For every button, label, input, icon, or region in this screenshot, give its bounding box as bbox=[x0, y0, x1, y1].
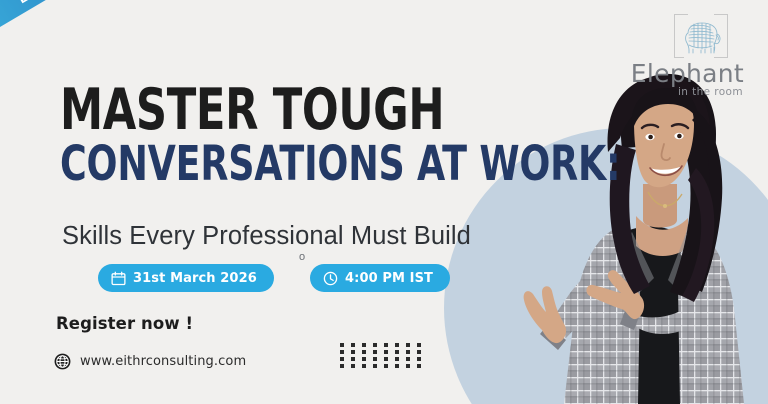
page-title: MASTER TOUGH CONVERSATIONS AT WORK: bbox=[60, 84, 560, 187]
webinar-promo-banner: FREE LIVE WEBINAR bbox=[0, 0, 768, 404]
date-badge[interactable]: 31st March 2026 bbox=[98, 264, 274, 292]
stray-glyph: o bbox=[299, 251, 305, 263]
ribbon-line-2: LIVE WEBINAR bbox=[16, 0, 131, 7]
time-label: 4:00 PM IST bbox=[345, 271, 433, 286]
free-live-webinar-ribbon: FREE LIVE WEBINAR bbox=[0, 0, 197, 63]
time-badge[interactable]: 4:00 PM IST bbox=[310, 264, 450, 292]
elephant-icon bbox=[680, 19, 724, 55]
headline-line-1: MASTER TOUGH bbox=[60, 84, 440, 136]
website-url: www.eithrconsulting.com bbox=[80, 354, 246, 369]
subheadline: Skills Every Professional Must Build bbox=[62, 222, 471, 251]
logo-frame-gap-bottom bbox=[684, 57, 714, 62]
clock-icon bbox=[323, 271, 338, 286]
globe-icon bbox=[54, 353, 71, 370]
headline-line-2: CONVERSATIONS AT WORK: bbox=[60, 142, 440, 186]
register-cta-label[interactable]: Register now ! bbox=[56, 314, 193, 333]
logo-frame-gap-top bbox=[688, 12, 714, 17]
logo-wordmark: Elephant bbox=[628, 61, 744, 86]
calendar-icon bbox=[111, 271, 126, 286]
logo-mark bbox=[674, 14, 730, 60]
dot-grid-decoration bbox=[340, 343, 428, 371]
brand-logo[interactable]: Elephant in the room bbox=[628, 14, 746, 99]
date-label: 31st March 2026 bbox=[133, 271, 257, 286]
website-row[interactable]: www.eithrconsulting.com bbox=[54, 353, 246, 370]
